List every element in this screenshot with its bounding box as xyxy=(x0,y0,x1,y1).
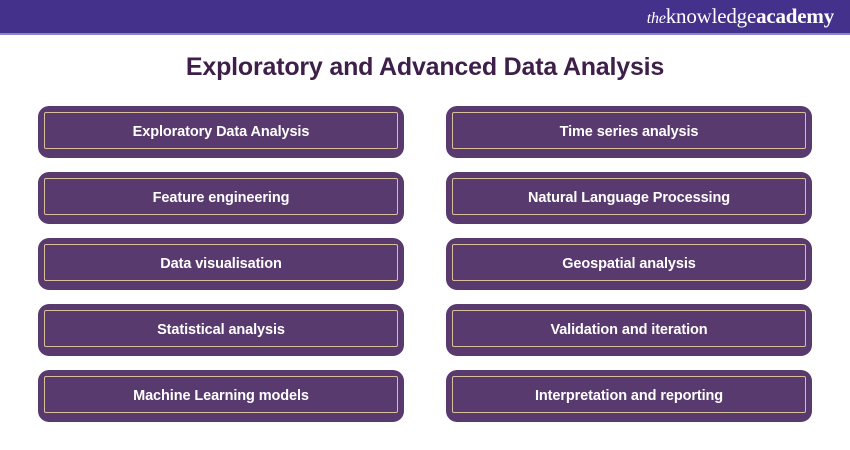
topic-card-label: Natural Language Processing xyxy=(516,190,742,206)
topic-card-label: Feature engineering xyxy=(141,190,302,206)
topic-card-label: Validation and iteration xyxy=(538,322,719,338)
topic-card[interactable]: Time series analysis xyxy=(446,106,812,158)
header-divider xyxy=(0,33,850,35)
topic-card[interactable]: Geospatial analysis xyxy=(446,238,812,290)
topic-card[interactable]: Interpretation and reporting xyxy=(446,370,812,422)
topic-card[interactable]: Exploratory Data Analysis xyxy=(38,106,404,158)
brand-header-bar: theknowledgeacademy xyxy=(0,0,850,33)
topic-card[interactable]: Validation and iteration xyxy=(446,304,812,356)
topic-card[interactable]: Feature engineering xyxy=(38,172,404,224)
topic-card-label: Machine Learning models xyxy=(121,388,321,404)
topic-card-label: Exploratory Data Analysis xyxy=(121,124,322,140)
topic-card-label: Interpretation and reporting xyxy=(523,388,735,404)
infographic-page: theknowledgeacademy Exploratory and Adva… xyxy=(0,0,850,450)
topic-card[interactable]: Data visualisation xyxy=(38,238,404,290)
logo-word-academy: academy xyxy=(756,4,834,28)
topic-card[interactable]: Statistical analysis xyxy=(38,304,404,356)
topic-card-label: Time series analysis xyxy=(548,124,711,140)
topic-grid: Exploratory Data Analysis Time series an… xyxy=(38,106,812,422)
brand-logo: theknowledgeacademy xyxy=(647,6,834,27)
topic-card-label: Geospatial analysis xyxy=(550,256,708,272)
topic-card[interactable]: Machine Learning models xyxy=(38,370,404,422)
topic-card-label: Data visualisation xyxy=(148,256,294,272)
logo-word-the: the xyxy=(647,10,666,27)
page-title: Exploratory and Advanced Data Analysis xyxy=(0,53,850,82)
topic-card[interactable]: Natural Language Processing xyxy=(446,172,812,224)
logo-word-knowledge: knowledge xyxy=(666,4,756,28)
topic-card-label: Statistical analysis xyxy=(145,322,297,338)
